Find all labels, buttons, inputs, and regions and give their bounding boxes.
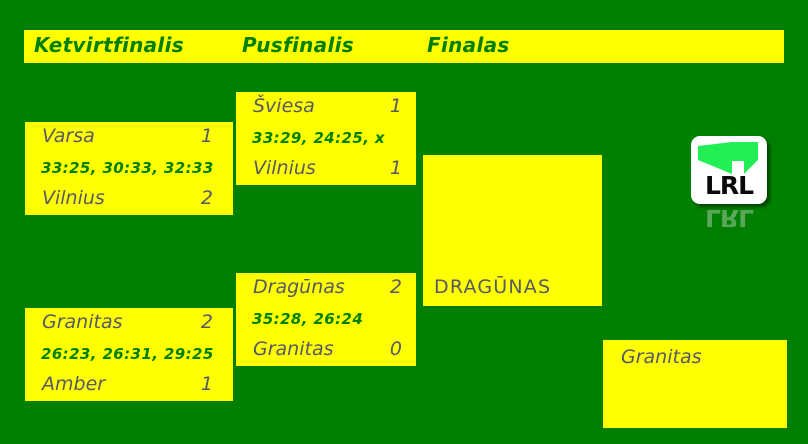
match-row: Granitas 0 [236, 335, 416, 367]
set-scores: 35:28, 26:24 [252, 310, 363, 328]
team-name: Amber [42, 373, 105, 395]
round-label-final: Finalas [427, 33, 510, 57]
match-row: Vilnius 1 [236, 154, 416, 186]
team-name: Dragūnas [253, 276, 345, 298]
team-name: Varsa [42, 125, 95, 147]
match-row: Varsa 1 [25, 122, 233, 154]
set-scores: 26:23, 26:31, 29:25 [41, 345, 214, 363]
logo-tile: LRL [691, 136, 767, 204]
match-row: Šviesa 1 [236, 92, 416, 124]
match-row: Granitas 2 [25, 308, 233, 340]
team-score: 1 [362, 157, 402, 179]
team-score: 1 [173, 373, 213, 395]
match-scoreline-row: 26:23, 26:31, 29:25 [25, 340, 233, 370]
team-score: 1 [173, 125, 213, 147]
match-scoreline-row: 35:28, 26:24 [236, 305, 416, 335]
extra-panel: Granitas [603, 340, 787, 428]
match-quarterfinal-1: Varsa 1 33:25, 30:33, 32:33 Vilnius 2 [25, 122, 233, 215]
match-scoreline-row: 33:25, 30:33, 32:33 [25, 154, 233, 184]
final-winner-label: DRAGŪNAS [434, 276, 551, 298]
extra-team-label: Granitas [621, 346, 702, 368]
round-label-quarterfinal: Ketvirtfinalis [34, 33, 184, 57]
team-name: Vilnius [253, 157, 316, 179]
set-scores: 33:25, 30:33, 32:33 [41, 159, 214, 177]
team-score: 2 [173, 311, 213, 333]
team-score: 1 [362, 95, 402, 117]
team-score: 2 [173, 187, 213, 209]
round-header-bar: Ketvirtfinalis Pusfinalis Finalas [24, 30, 784, 63]
logo-reflection: LRL [693, 205, 765, 227]
match-row: Vilnius 2 [25, 184, 233, 216]
logo-reflection-text: LRL [693, 205, 765, 227]
team-score: 0 [362, 338, 402, 360]
match-semifinal-1: Šviesa 1 33:29, 24:25, x Vilnius 1 [236, 92, 416, 185]
team-name: Granitas [42, 311, 123, 333]
lrl-logo: LRL LRL [691, 136, 771, 208]
match-row: Amber 1 [25, 370, 233, 402]
match-quarterfinal-2: Granitas 2 26:23, 26:31, 29:25 Amber 1 [25, 308, 233, 401]
team-name: Šviesa [253, 95, 315, 117]
team-name: Granitas [253, 338, 334, 360]
team-name: Vilnius [42, 187, 105, 209]
match-scoreline-row: 33:29, 24:25, x [236, 124, 416, 154]
match-semifinal-2: Dragūnas 2 35:28, 26:24 Granitas 0 [236, 273, 416, 366]
team-score: 2 [362, 276, 402, 298]
match-row: Dragūnas 2 [236, 273, 416, 305]
set-scores: 33:29, 24:25, x [252, 129, 385, 147]
bracket-canvas: Ketvirtfinalis Pusfinalis Finalas Varsa … [0, 0, 808, 444]
round-label-semifinal: Pusfinalis [242, 33, 354, 57]
logo-text: LRL [691, 172, 767, 200]
